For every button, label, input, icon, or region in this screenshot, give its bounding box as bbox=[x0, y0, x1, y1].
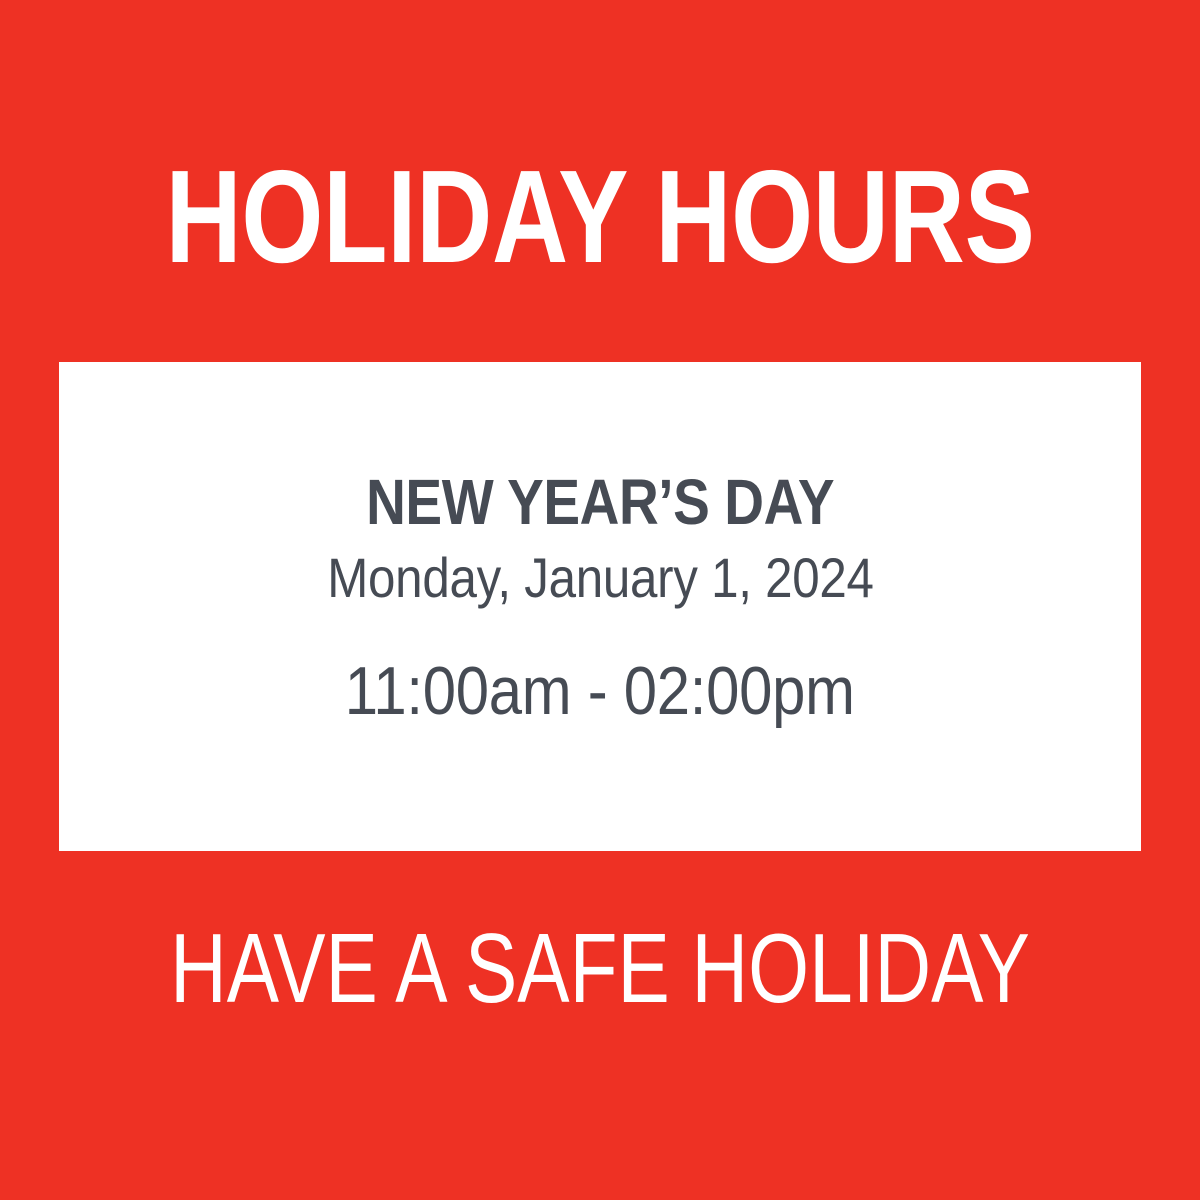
poster-footer-message: HAVE A SAFE HOLIDAY bbox=[120, 916, 1080, 1020]
holiday-hours-poster: HOLIDAY HOURS NEW YEAR’S DAY Monday, Jan… bbox=[0, 0, 1200, 1200]
holiday-name: NEW YEAR’S DAY bbox=[366, 470, 834, 535]
holiday-info-content: NEW YEAR’S DAY Monday, January 1, 2024 1… bbox=[59, 470, 1141, 727]
holiday-info-card: NEW YEAR’S DAY Monday, January 1, 2024 1… bbox=[59, 362, 1141, 851]
poster-headline: HOLIDAY HOURS bbox=[120, 152, 1080, 282]
holiday-date: Monday, January 1, 2024 bbox=[327, 549, 873, 608]
holiday-hours: 11:00am - 02:00pm bbox=[345, 656, 855, 727]
